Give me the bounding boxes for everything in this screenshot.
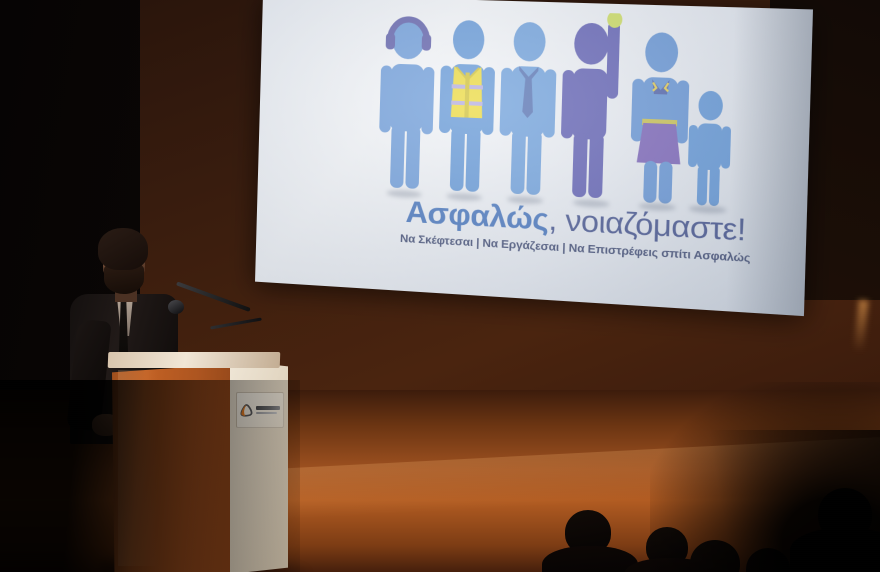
figure-child [686, 89, 734, 209]
slide-pictogram-group [376, 3, 744, 209]
corner-vignette [650, 382, 880, 572]
podium-top-surface [108, 352, 281, 368]
figure-person-raising-hand [558, 12, 630, 204]
microphone-head [168, 300, 184, 314]
projection-screen: Ασφαλώς, νοιαζόμαστε! Να Σκέφτεσαι | Να … [255, 0, 813, 316]
photo-scene: Ασφαλώς, νοιαζόμαστε! Να Σκέφτεσαι | Να … [0, 0, 880, 572]
figure-worker-with-hi-vis-vest [436, 14, 497, 196]
floor-shadow-left [0, 380, 300, 572]
speaker-hair [98, 228, 148, 270]
figure-office-worker-with-tie [497, 16, 559, 200]
audience-shoulders-1 [542, 546, 638, 572]
figure-woman-in-uniform [627, 24, 693, 207]
figure-worker-with-ear-protection [376, 13, 437, 194]
slide-headline-bold: Ασφαλώς [405, 195, 549, 236]
